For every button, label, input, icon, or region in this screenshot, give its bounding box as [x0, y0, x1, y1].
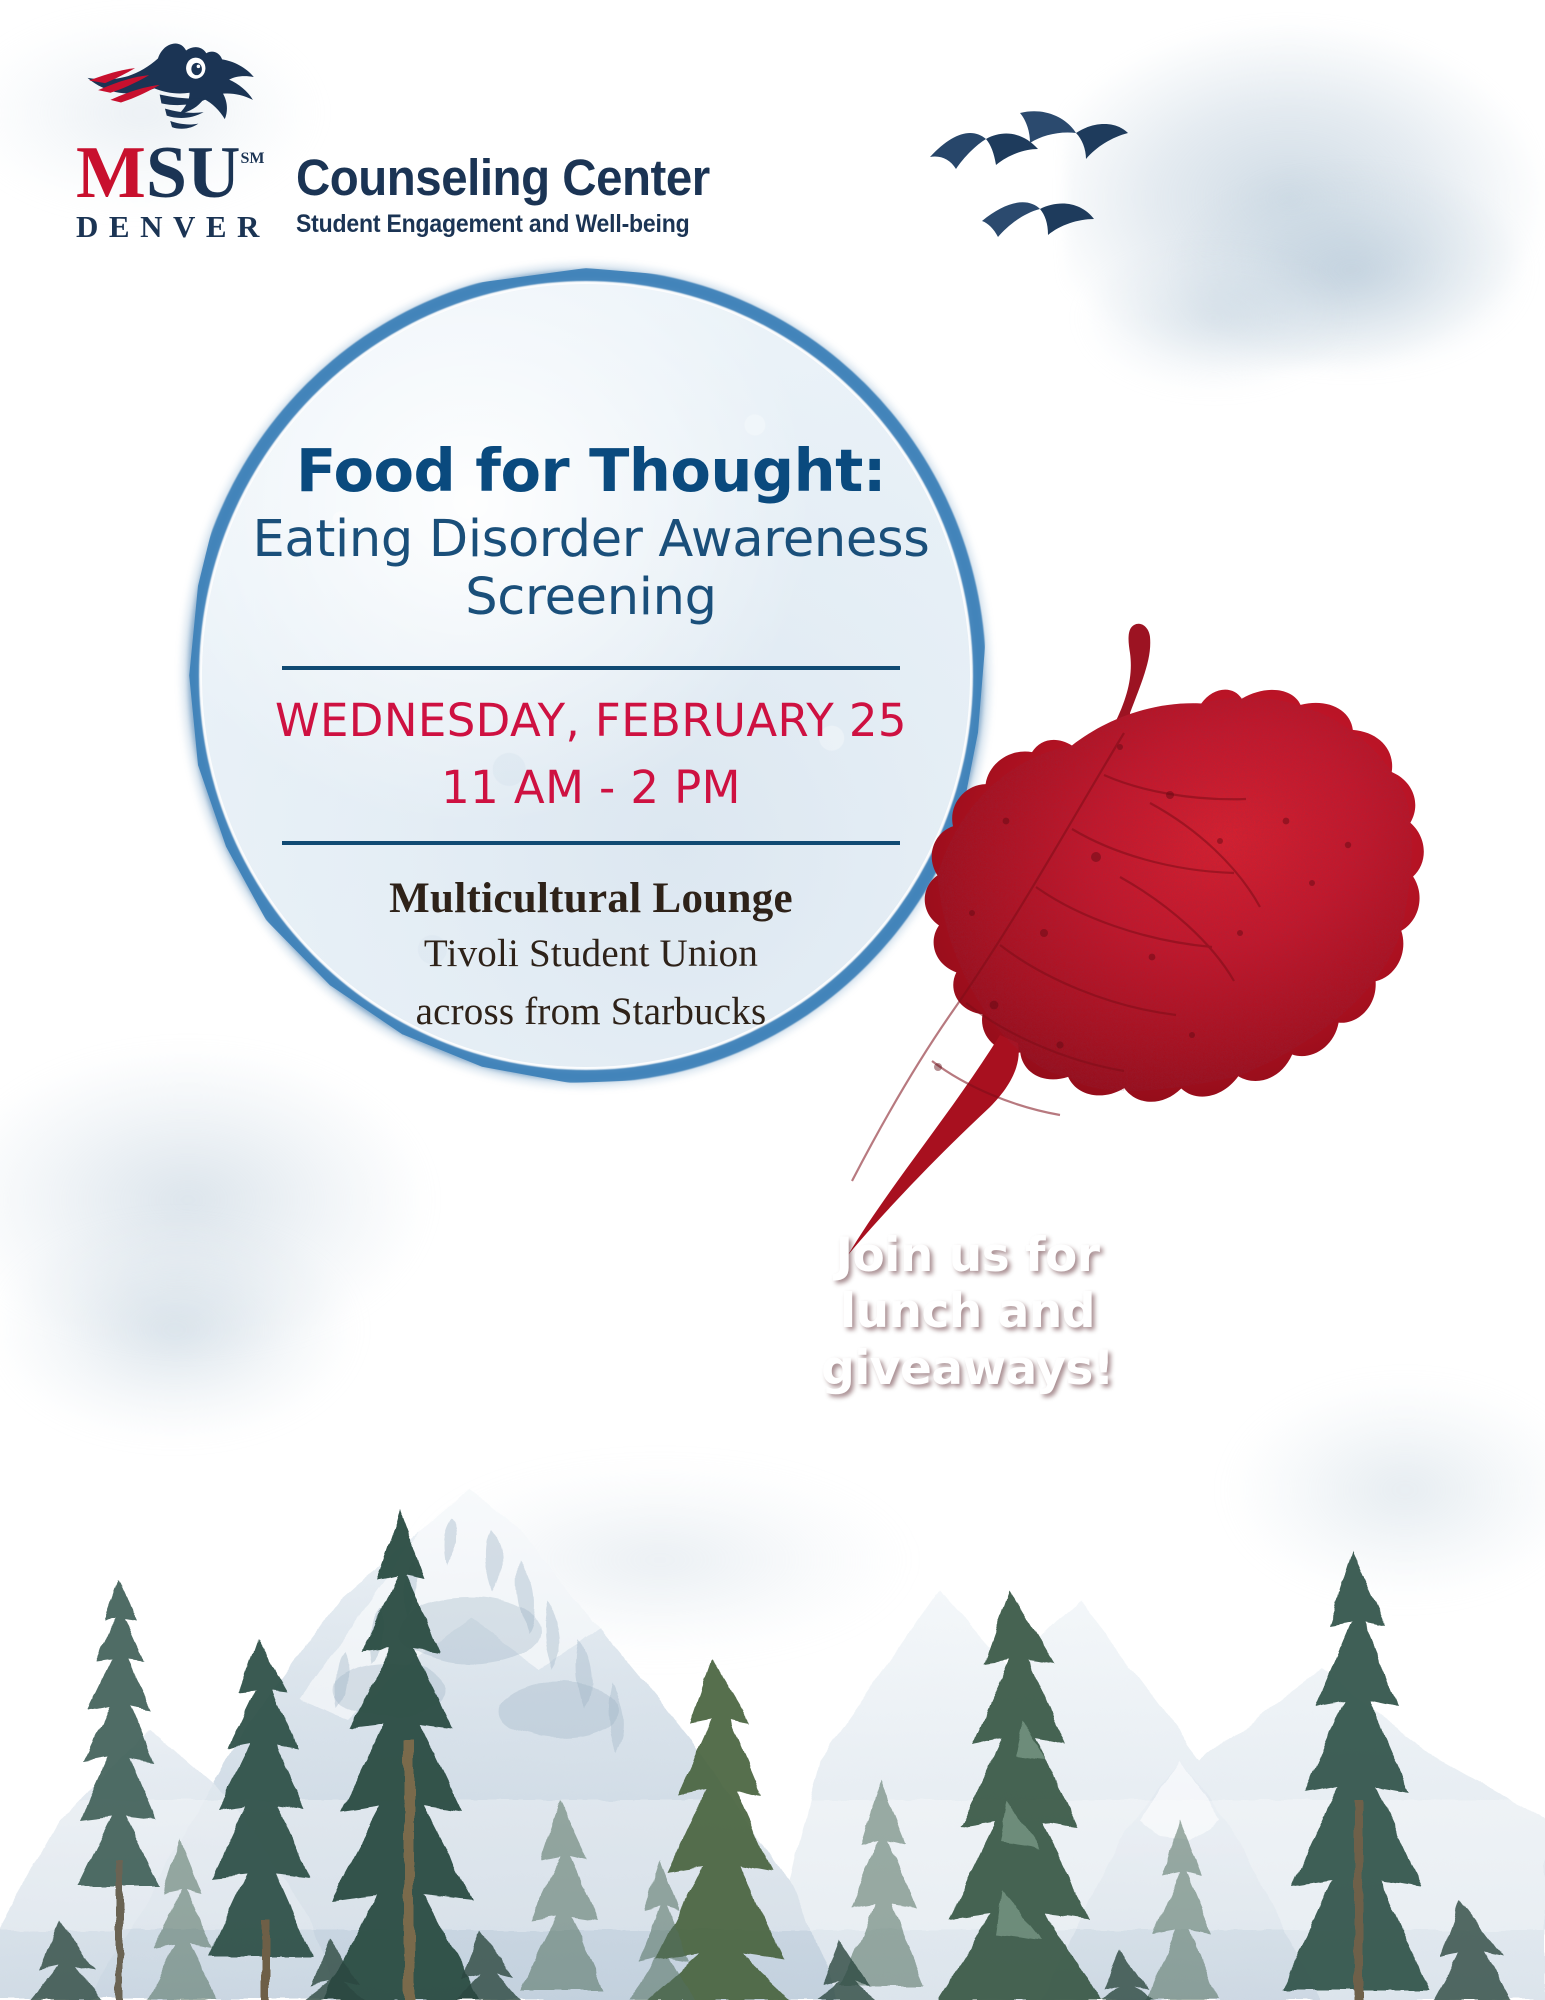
- watercolor-mountains-icon: [0, 1200, 1545, 2000]
- roadrunner-head-icon: [82, 40, 262, 135]
- flying-birds-icon: [920, 105, 1150, 285]
- msu-wordmark-su: SU: [146, 132, 241, 214]
- msu-denver-counseling-center-logo: MSUSM DENVER Counseling Center Student E…: [76, 40, 741, 245]
- callout-line3: giveaways!: [795, 1341, 1140, 1397]
- watercolor-clouds-icon: [1115, 120, 1545, 420]
- department-name: Counseling Center: [296, 152, 710, 203]
- msu-wordmark: MSUSM: [76, 139, 264, 207]
- venue-landmark: across from Starbucks: [246, 987, 936, 1038]
- msu-wordmark-m: M: [76, 132, 146, 214]
- poster-canvas: MSUSM DENVER Counseling Center Student E…: [0, 0, 1545, 2000]
- callout-line2: lunch and: [795, 1284, 1140, 1340]
- divider-top: [282, 666, 900, 670]
- denver-wordmark: DENVER: [76, 209, 270, 245]
- page-title: Food for Thought:: [246, 440, 936, 503]
- divider-bottom: [282, 841, 900, 845]
- callout-line1: Join us for: [795, 1228, 1140, 1284]
- event-details-block: Food for Thought: Eating Disorder Awaren…: [246, 440, 936, 1038]
- event-date: WEDNESDAY, FEBRUARY 25: [246, 692, 936, 750]
- event-time: 11 AM - 2 PM: [246, 759, 936, 817]
- department-tagline: Student Engagement and Well-being: [296, 212, 705, 237]
- event-subtitle-line1: Eating Disorder Awareness: [246, 511, 936, 569]
- event-subtitle-line2: Screening: [246, 569, 936, 627]
- venue-building: Tivoli Student Union: [246, 929, 936, 980]
- event-subtitle: Eating Disorder Awareness Screening: [246, 511, 936, 627]
- service-mark-icon: SM: [240, 150, 264, 167]
- callout-text: Join us for lunch and giveaways!: [795, 1228, 1140, 1397]
- watercolor-clouds-icon: [380, 1430, 940, 1690]
- watercolor-clouds-icon: [1195, 1340, 1545, 1640]
- venue-name: Multicultural Lounge: [246, 875, 936, 922]
- watercolor-clouds-icon: [0, 1180, 390, 1480]
